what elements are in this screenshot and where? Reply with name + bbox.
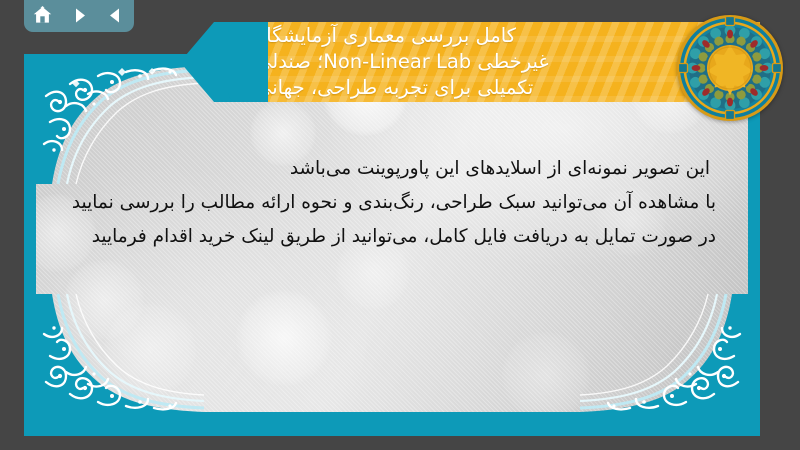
title-line-1: کامل بررسی معماری آزمایشگاه	[256, 23, 516, 49]
mandala-ornament-icon	[676, 14, 784, 122]
corner-ornament-bottom-left	[36, 294, 204, 412]
title-line-2: غیرخطی Non-Linear Lab؛ صندلی	[256, 49, 549, 75]
bokeh-circle	[236, 290, 332, 386]
banner-left-tab	[228, 22, 268, 102]
slide-body-text: این تصویر نمونه‌ای از اسلایدهای این پاور…	[50, 152, 734, 254]
slide-content-area: این تصویر نمونه‌ای از اسلایدهای این پاور…	[36, 66, 748, 412]
slide-navigation-bar[interactable]	[24, 0, 134, 32]
body-line-3: در صورت تمایل به دریافت فایل کامل، می‌تو…	[50, 220, 716, 254]
bokeh-circle	[502, 332, 590, 412]
chevron-left-icon	[107, 7, 124, 24]
next-slide-button[interactable]	[65, 2, 93, 28]
home-icon	[33, 6, 52, 24]
title-line-3: تکمیلی برای تجربه طراحی، جهانی	[256, 75, 533, 101]
body-line-1: این تصویر نمونه‌ای از اسلایدهای این پاور…	[50, 152, 716, 186]
previous-slide-button[interactable]	[102, 2, 130, 28]
slide-preview-stage: این تصویر نمونه‌ای از اسلایدهای این پاور…	[0, 0, 800, 450]
chevron-right-icon	[71, 7, 88, 24]
bokeh-circle	[64, 260, 144, 340]
bokeh-circle	[104, 304, 196, 396]
slide-frame: این تصویر نمونه‌ای از اسلایدهای این پاور…	[24, 54, 760, 436]
home-button[interactable]	[28, 2, 56, 28]
body-line-2: با مشاهده آن می‌توانید سبک طراحی، رنگ‌بن…	[50, 186, 716, 220]
corner-ornament-bottom-right	[580, 294, 748, 412]
